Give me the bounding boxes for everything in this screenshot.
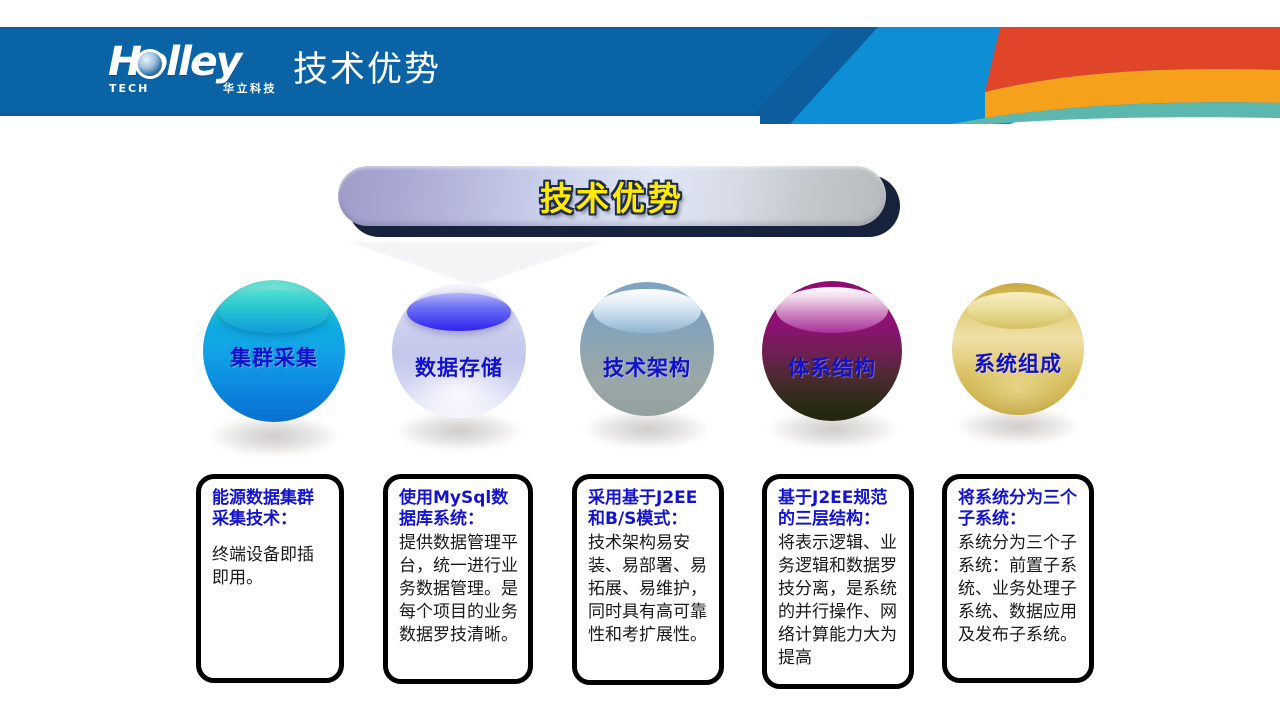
- info-box-body: 技术架构易安装、易部署、易拓展、易维护，同时具有高可靠性和考扩展性。: [588, 532, 710, 647]
- info-box-title: 能源数据集群采集技术：: [212, 488, 330, 530]
- sphere-body: [580, 282, 714, 416]
- sphere-body: [762, 281, 902, 421]
- logo-chinese-text: 华立科技: [223, 83, 277, 95]
- logo-wordmark: Holley: [108, 42, 240, 82]
- sphere-label: 系统组成: [952, 348, 1084, 378]
- sphere-label: 数据存储: [392, 352, 526, 382]
- title-banner: 技术优势: [338, 166, 900, 242]
- logo-o-ring-icon: [138, 52, 162, 76]
- header-band-edge: [0, 113, 1280, 116]
- sphere-item-system-structure[interactable]: 体系结构: [762, 280, 902, 470]
- sphere-item-system-composition[interactable]: 系统组成: [952, 280, 1084, 470]
- info-box-3[interactable]: 采用基于J2EE和B/S模式： 技术架构易安装、易部署、易拓展、易维护，同时具有…: [572, 474, 724, 685]
- banner-title-text: 技术优势: [338, 166, 886, 226]
- sphere-label: 集群采集: [203, 342, 345, 372]
- sphere-highlight-cap: [967, 292, 1070, 329]
- sphere-highlight-cap: [407, 293, 512, 331]
- holley-logo: Holley TECH 华立科技: [108, 42, 274, 98]
- info-box-title: 使用MySql数据库系统：: [399, 488, 519, 530]
- info-box-1[interactable]: 能源数据集群采集技术： 终端设备即插即用。: [196, 474, 344, 683]
- sphere-label: 技术架构: [580, 352, 714, 382]
- info-box-body: 系统分为三个子系统：前置子系统、业务处理子系统、数据应用及发布子系统。: [958, 532, 1080, 647]
- slide-canvas: Holley TECH 华立科技 技术优势 技术优势 集群采集 数据存储 技术架…: [0, 0, 1280, 720]
- logo-tech-text: TECH: [109, 83, 149, 95]
- sphere-label: 体系结构: [762, 352, 902, 382]
- sphere-item-tech-architecture[interactable]: 技术架构: [580, 280, 714, 470]
- info-box-body: 提供数据管理平台，统一进行业务数据管理。是每个项目的业务数据罗技清晰。: [399, 532, 519, 647]
- sphere-highlight-cap: [219, 290, 330, 333]
- sphere-item-data-storage[interactable]: 数据存储: [392, 280, 526, 470]
- logo-subtitle: TECH 华立科技: [109, 83, 277, 95]
- info-box-2[interactable]: 使用MySql数据库系统： 提供数据管理平台，统一进行业务数据管理。是每个项目的…: [383, 474, 533, 684]
- sphere-shadow: [211, 416, 337, 456]
- info-box-5[interactable]: 将系统分为三个子系统： 系统分为三个子系统：前置子系统、业务处理子系统、数据应用…: [942, 474, 1094, 683]
- sphere-body: [392, 284, 526, 418]
- info-box-4[interactable]: 基于J2EE规范的三层结构： 将表示逻辑、业务逻辑和数据罗技分离，是系统的并行操…: [762, 474, 914, 689]
- page-title: 技术优势: [293, 48, 441, 92]
- sphere-highlight-cap: [593, 289, 700, 333]
- sphere-item-cluster-collection[interactable]: 集群采集: [203, 280, 345, 470]
- info-box-body: 将表示逻辑、业务逻辑和数据罗技分离，是系统的并行操作、网络计算能力大为提高: [778, 532, 900, 670]
- sphere-highlight-cap: [776, 287, 888, 333]
- info-box-title: 采用基于J2EE和B/S模式：: [588, 488, 710, 530]
- info-box-title: 基于J2EE规范的三层结构：: [778, 488, 900, 530]
- info-box-title: 将系统分为三个子系统：: [958, 488, 1080, 530]
- info-box-body: 终端设备即插即用。: [212, 544, 330, 590]
